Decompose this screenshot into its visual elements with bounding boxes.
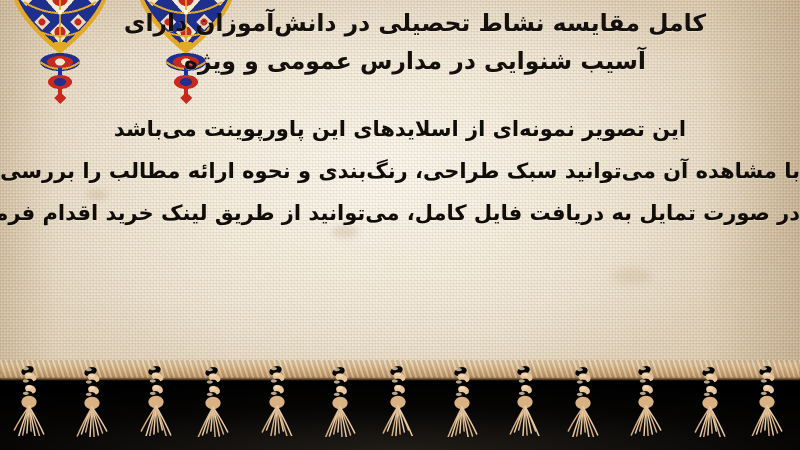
- carpet-tassel: [196, 365, 230, 437]
- carpet-tassel: [12, 364, 46, 436]
- carpet-tassel: [629, 364, 663, 436]
- slide-canvas: کامل مقایسه نشاط تحصیلی در دانش‌آموزان د…: [0, 0, 800, 450]
- slide-body-line-1: این تصویر نمونه‌ای از اسلایدهای این پاور…: [0, 108, 800, 150]
- carpet-tassel: [260, 364, 294, 436]
- carpet-tassel: [381, 364, 415, 436]
- slide-body-line-3: در صورت تمایل به دریافت فایل کامل، می‌تو…: [0, 192, 800, 234]
- carpet-tassel: [139, 364, 173, 436]
- carpet-tassel: [750, 364, 784, 436]
- carpet-tassel: [445, 365, 479, 437]
- slide-body-text: این تصویر نمونه‌ای از اسلایدهای این پاور…: [0, 108, 800, 234]
- carpet-tassel: [566, 365, 600, 437]
- carpet-tassel: [323, 365, 357, 437]
- slide-body-line-2: با مشاهده آن می‌توانید سبک طراحی، رنگ‌بن…: [0, 150, 800, 192]
- slide-title: کامل مقایسه نشاط تحصیلی در دانش‌آموزان د…: [26, 4, 786, 80]
- carpet-tassel: [508, 364, 542, 436]
- carpet-tassel: [75, 365, 109, 437]
- carpet-tassel: [693, 365, 727, 437]
- slide-title-line-1: کامل مقایسه نشاط تحصیلی در دانش‌آموزان د…: [26, 4, 786, 42]
- slide-title-line-2: آسیب شنوایی در مدارس عمومی و ویژه: [26, 42, 786, 80]
